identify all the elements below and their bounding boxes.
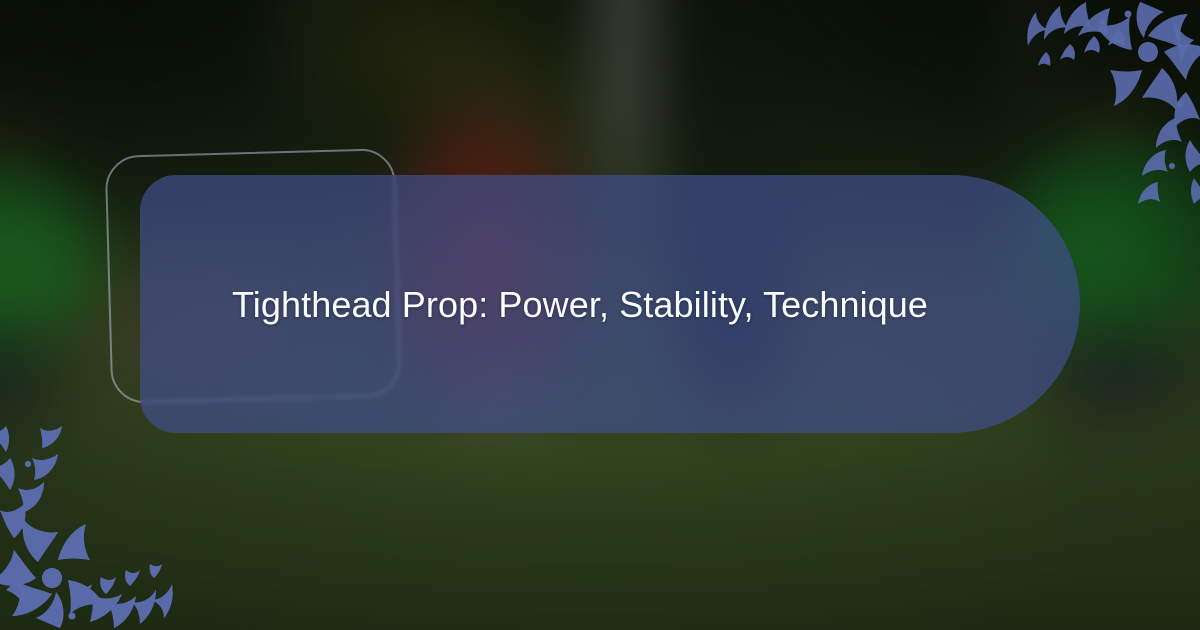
title-card: Tighthead Prop: Power, Stability, Techni… <box>140 175 1080 433</box>
share-card-canvas: Tighthead Prop: Power, Stability, Techni… <box>0 0 1200 630</box>
page-title: Tighthead Prop: Power, Stability, Techni… <box>140 282 1048 327</box>
